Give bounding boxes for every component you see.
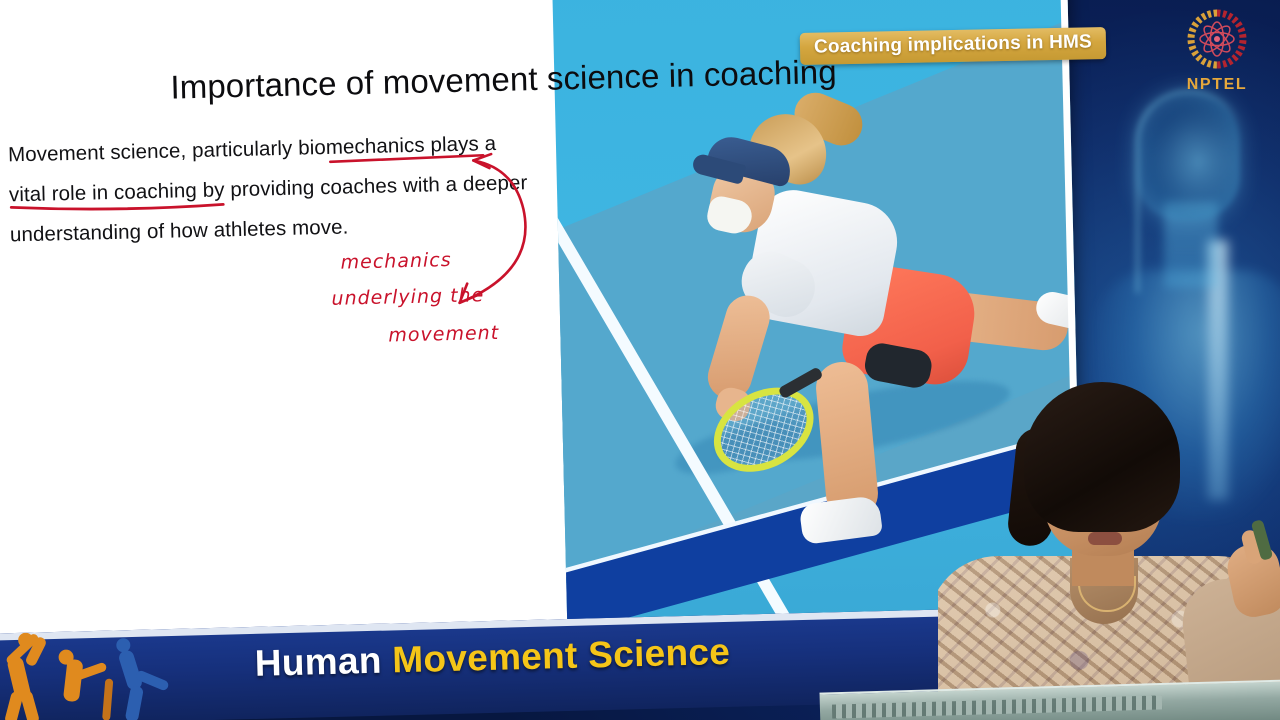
lecture-video-frame: Importance of movement science in coachi… (0, 0, 1280, 720)
banner-text: Human Movement Science (254, 631, 730, 685)
presentation-slide: Importance of movement science in coachi… (0, 0, 1083, 656)
banner-word-movement-science: Movement Science (392, 631, 731, 681)
sports-figures-icon (0, 631, 176, 720)
nptel-atom-icon (1162, 8, 1272, 70)
nptel-logo: NPTEL (1162, 8, 1272, 92)
banner-word-human: Human (254, 640, 382, 684)
presenter-video (938, 380, 1280, 720)
nptel-logo-text: NPTEL (1162, 76, 1272, 94)
topic-badge: Coaching implications in HMS (800, 27, 1107, 65)
